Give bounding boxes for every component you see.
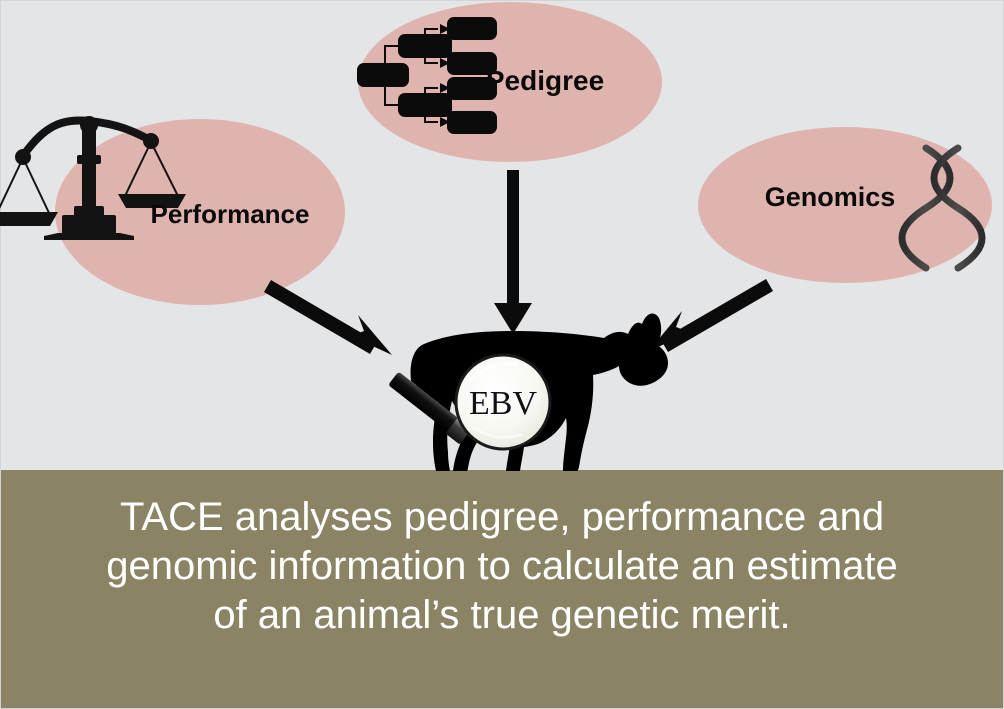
caption-block: TACE analyses pedigree, performance and … <box>106 495 898 637</box>
caption-line-3: of an animal’s true genetic merit. <box>213 593 790 637</box>
caption-line-1: TACE analyses pedigree, performance and <box>120 495 884 539</box>
ebv-label: EBV <box>469 385 537 422</box>
node-genomics[interactable]: Genomics <box>698 127 992 283</box>
figure-canvas: Performance <box>0 0 1004 709</box>
node-pedigree[interactable]: Pedigree <box>357 2 662 162</box>
node-label-genomics: Genomics <box>765 182 896 212</box>
diagram-svg: Performance <box>0 0 1004 709</box>
pedigree-box-root <box>357 63 409 87</box>
node-label-pedigree: Pedigree <box>486 65 604 96</box>
node-label-performance: Performance <box>151 199 310 229</box>
caption-line-2: genomic information to calculate an esti… <box>106 544 898 588</box>
